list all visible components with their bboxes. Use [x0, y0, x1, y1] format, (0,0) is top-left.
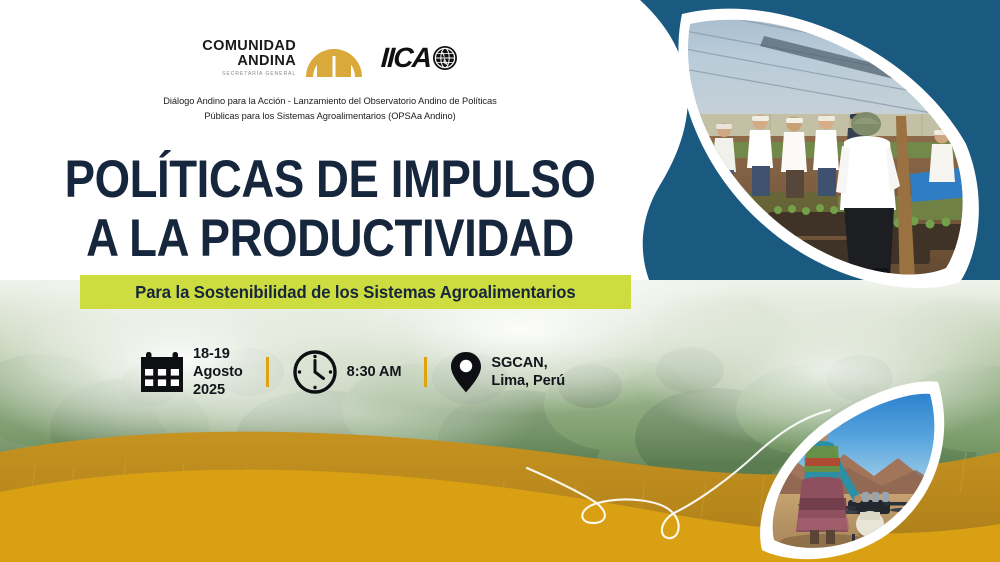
- event-date-text: 18-19 Agosto 2025: [193, 345, 243, 399]
- comunidad-andina-logo: COMUNIDAD ANDINA SECRETARÍA GENERAL: [202, 37, 365, 79]
- event-location-line2: Lima, Perú: [491, 372, 565, 390]
- event-date-line2: Agosto: [193, 363, 243, 381]
- clock-icon: [292, 349, 338, 395]
- iica-wordmark: IICA: [380, 42, 431, 74]
- event-date: 18-19 Agosto 2025: [140, 345, 243, 399]
- divider-1: [266, 357, 269, 387]
- divider-2: [424, 357, 427, 387]
- subtitle-banner: Para la Sostenibilidad de los Sistemas A…: [80, 275, 631, 309]
- event-description: Diálogo Andino para la Acción - Lanzamie…: [0, 94, 660, 125]
- event-description-line1: Diálogo Andino para la Acción - Lanzamie…: [0, 94, 660, 109]
- globe-icon: [432, 45, 458, 71]
- poster-header: COMUNIDAD ANDINA SECRETARÍA GENERAL IICA: [0, 34, 660, 125]
- subtitle-text: Para la Sostenibilidad de los Sistemas A…: [135, 282, 575, 303]
- andean-arch-icon: [303, 37, 365, 79]
- event-date-line1: 18-19: [193, 345, 243, 363]
- event-description-line2: Públicas para los Sistemas Agroalimentar…: [0, 109, 660, 124]
- event-details-row: 18-19 Agosto 2025 8:30 AM: [140, 345, 565, 399]
- leaf-photo-drone: [748, 372, 958, 562]
- event-location-text: SGCAN, Lima, Perú: [491, 354, 565, 390]
- logo-row: COMUNIDAD ANDINA SECRETARÍA GENERAL IICA: [0, 34, 660, 82]
- can-logo-line2: ANDINA: [202, 54, 296, 69]
- iica-logo: IICA: [381, 42, 458, 74]
- event-location-line1: SGCAN,: [491, 354, 565, 372]
- event-time-text: 8:30 AM: [347, 363, 402, 381]
- can-logo-line1: COMUNIDAD: [202, 39, 296, 54]
- can-wordmark: COMUNIDAD ANDINA SECRETARÍA GENERAL: [202, 39, 296, 77]
- map-pin-icon: [450, 350, 482, 394]
- event-date-line3: 2025: [193, 381, 243, 399]
- event-location: SGCAN, Lima, Perú: [450, 350, 565, 394]
- event-poster: COMUNIDAD ANDINA SECRETARÍA GENERAL IICA: [0, 0, 1000, 562]
- title-line-1: POLÍTICAS DE IMPULSO: [46, 150, 614, 209]
- calendar-icon: [140, 351, 184, 393]
- page-title: POLÍTICAS DE IMPULSO A LA PRODUCTIVIDAD: [0, 150, 660, 269]
- event-time: 8:30 AM: [292, 349, 402, 395]
- can-logo-subtitle: SECRETARÍA GENERAL: [202, 72, 296, 77]
- leaf-photo-greenhouse: [660, 0, 990, 296]
- title-line-2: A LA PRODUCTIVIDAD: [46, 209, 614, 268]
